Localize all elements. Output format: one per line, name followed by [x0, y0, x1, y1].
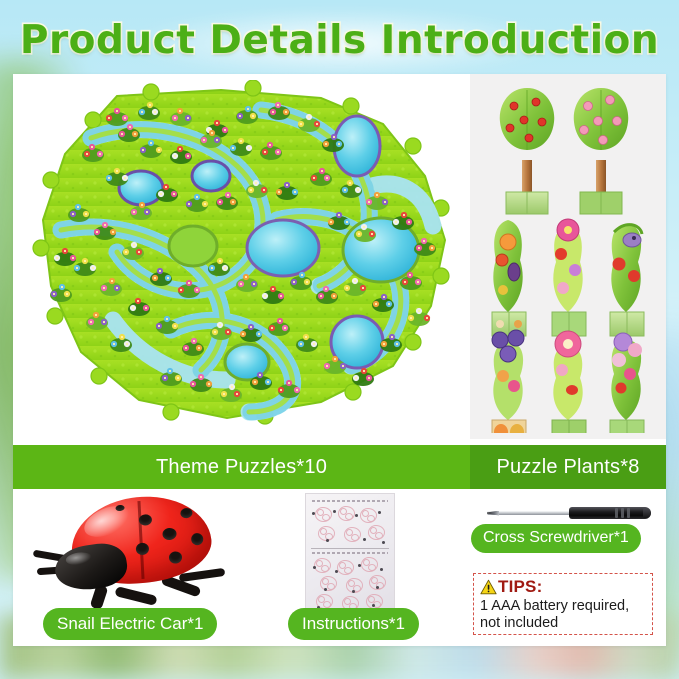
puzzle-plants-caption: Puzzle Plants*8	[470, 445, 666, 489]
ladybug-spot	[138, 514, 152, 526]
instructions-label: Instructions*1	[288, 608, 419, 640]
ladybug-head	[52, 540, 129, 594]
top-region	[13, 74, 666, 439]
ladybug-electric-car-image	[33, 493, 248, 613]
puzzle-plants-panel	[470, 74, 666, 439]
plants-svg	[478, 80, 658, 433]
tips-line-1: 1 AAA battery required,	[480, 598, 647, 615]
warning-triangle-icon	[480, 579, 497, 595]
puzzle-mat-svg	[21, 80, 462, 432]
ladybug-leg-mid	[114, 586, 157, 606]
assembled-theme-puzzle-mat-image	[21, 80, 462, 432]
puzzle-plant-pieces-image	[478, 80, 658, 433]
ladybug-spot	[162, 527, 177, 540]
sheet-heading-line	[312, 500, 388, 502]
tools-cell: Cross Screwdriver*1 TIPS: 1 AAA battery …	[463, 489, 666, 646]
instruction-sheet-image	[305, 493, 395, 617]
tips-line-2: not included	[480, 615, 647, 632]
screwdriver-handle	[569, 507, 651, 519]
tips-body: 1 AAA battery required, not included	[480, 598, 647, 632]
screwdriver-cap	[643, 508, 651, 518]
content-card: Theme Puzzles*10 Puzzle Plants*8	[13, 74, 666, 646]
ladybug-highlight	[80, 500, 134, 543]
snail-electric-car-label: Snail Electric Car*1	[43, 608, 217, 640]
ladybug-head-highlight	[65, 551, 92, 567]
screwdriver-shaft	[487, 511, 573, 515]
cross-screwdriver-label: Cross Screwdriver*1	[471, 524, 641, 553]
ladybug-spot	[180, 508, 193, 519]
theme-puzzle-panel	[13, 74, 470, 439]
cross-screwdriver-image	[487, 507, 651, 519]
page-background: Product Details Introduction	[0, 0, 679, 679]
tips-heading-row: TIPS:	[480, 578, 647, 595]
bottom-region: Snail Electric Car*1	[13, 489, 666, 646]
theme-puzzles-caption: Theme Puzzles*10	[13, 445, 470, 489]
tips-heading: TIPS:	[498, 578, 542, 595]
ladybug-spot	[168, 551, 182, 564]
caption-bars: Theme Puzzles*10 Puzzle Plants*8	[13, 445, 666, 489]
tips-box: TIPS: 1 AAA battery required, not includ…	[473, 573, 653, 635]
ladybug-spot	[191, 533, 204, 546]
sheet-divider	[311, 548, 389, 549]
ladybug-spot	[135, 542, 149, 555]
instructions-cell: Instructions*1	[263, 489, 463, 646]
sheet-heading-line	[312, 552, 388, 554]
electric-car-cell: Snail Electric Car*1	[13, 489, 263, 646]
ladybug-wing-split	[137, 501, 144, 579]
page-title: Product Details Introduction	[0, 18, 679, 63]
